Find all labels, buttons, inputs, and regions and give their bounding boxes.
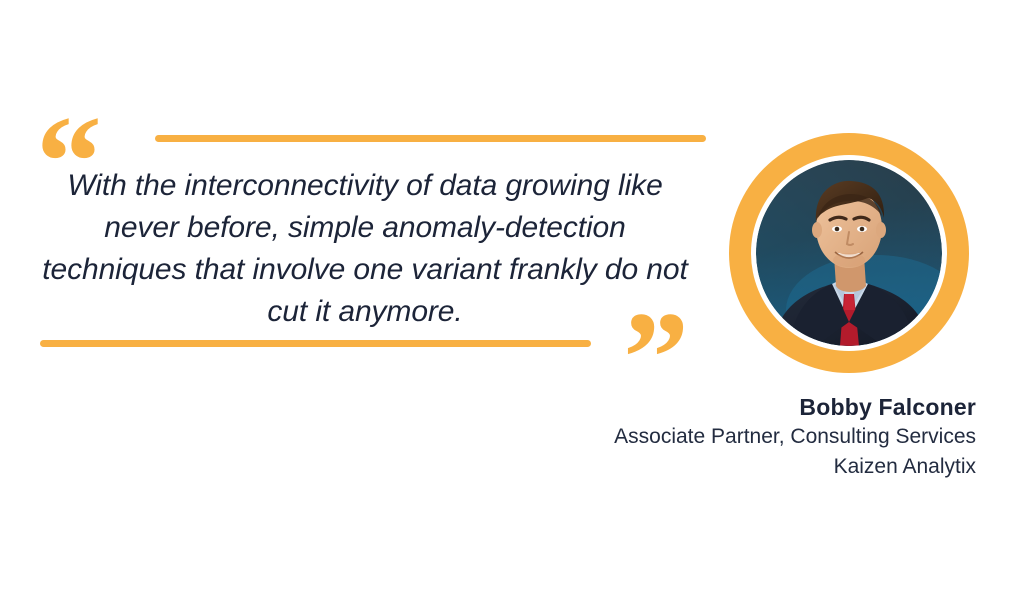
avatar	[729, 133, 969, 373]
accent-bar-top	[155, 135, 706, 142]
quote-text: With the interconnectivity of data growi…	[30, 165, 700, 333]
attribution: Bobby Falconer Associate Partner, Consul…	[614, 392, 976, 482]
avatar-ring-gap	[751, 155, 947, 351]
avatar-photo	[756, 160, 942, 346]
portrait-illustration	[756, 160, 942, 346]
speaker-company: Kaizen Analytix	[614, 452, 976, 482]
speaker-name: Bobby Falconer	[614, 392, 976, 422]
testimonial-card: “ With the interconnectivity of data gro…	[0, 0, 1024, 597]
accent-bar-bottom	[40, 340, 591, 347]
speaker-role: Associate Partner, Consulting Services	[614, 422, 976, 452]
